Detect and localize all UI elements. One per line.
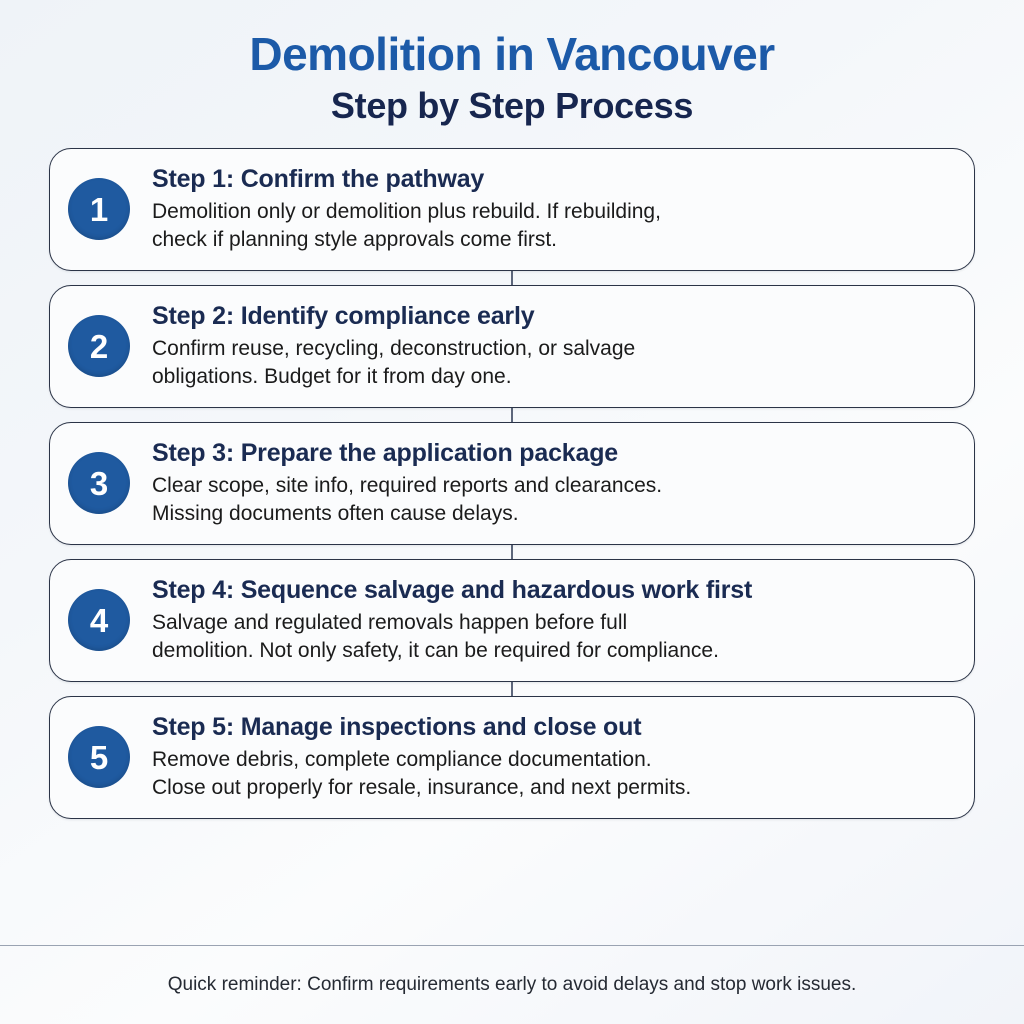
step-connector-line <box>511 270 513 286</box>
step-number-badge: 5 <box>68 726 130 788</box>
page-subtitle: Step by Step Process <box>0 86 1024 126</box>
step-item: 1Step 1: Confirm the pathwayDemolition o… <box>49 148 975 271</box>
step-item: 3Step 3: Prepare the application package… <box>49 422 975 545</box>
step-title: Step 4: Sequence salvage and hazardous w… <box>152 576 952 606</box>
page-title: Demolition in Vancouver <box>0 30 1024 78</box>
step-card[interactable]: 2Step 2: Identify compliance earlyConfir… <box>49 285 975 408</box>
step-description: Salvage and regulated removals happen be… <box>152 609 952 664</box>
infographic-poster: Demolition in Vancouver Step by Step Pro… <box>0 0 1024 1024</box>
step-description: Clear scope, site info, required reports… <box>152 472 952 527</box>
step-number-badge: 2 <box>68 315 130 377</box>
step-card-body: Step 4: Sequence salvage and hazardous w… <box>152 576 952 665</box>
step-connector-line <box>511 681 513 697</box>
step-card-body: Step 3: Prepare the application packageC… <box>152 439 952 528</box>
step-item: 4Step 4: Sequence salvage and hazardous … <box>49 559 975 682</box>
step-description: Demolition only or demolition plus rebui… <box>152 198 952 253</box>
step-number-badge: 3 <box>68 452 130 514</box>
step-connector-line <box>511 544 513 560</box>
step-card[interactable]: 4Step 4: Sequence salvage and hazardous … <box>49 559 975 682</box>
step-card[interactable]: 3Step 3: Prepare the application package… <box>49 422 975 545</box>
step-card-body: Step 5: Manage inspections and close out… <box>152 713 952 802</box>
step-card[interactable]: 1Step 1: Confirm the pathwayDemolition o… <box>49 148 975 271</box>
step-number-badge: 4 <box>68 589 130 651</box>
step-connector-line <box>511 407 513 423</box>
step-title: Step 5: Manage inspections and close out <box>152 713 952 743</box>
poster-header: Demolition in Vancouver Step by Step Pro… <box>0 0 1024 126</box>
step-card-body: Step 1: Confirm the pathwayDemolition on… <box>152 165 952 254</box>
step-title: Step 1: Confirm the pathway <box>152 165 952 195</box>
step-description: Confirm reuse, recycling, deconstruction… <box>152 335 952 390</box>
step-title: Step 2: Identify compliance early <box>152 302 952 332</box>
step-title: Step 3: Prepare the application package <box>152 439 952 469</box>
footer-bar: Quick reminder: Confirm requirements ear… <box>0 945 1024 1024</box>
footer-reminder-text: Quick reminder: Confirm requirements ear… <box>168 974 857 996</box>
step-description: Remove debris, complete compliance docum… <box>152 746 952 801</box>
step-card[interactable]: 5Step 5: Manage inspections and close ou… <box>49 696 975 819</box>
steps-list: 1Step 1: Confirm the pathwayDemolition o… <box>49 148 975 819</box>
step-item: 2Step 2: Identify compliance earlyConfir… <box>49 285 975 408</box>
step-item: 5Step 5: Manage inspections and close ou… <box>49 696 975 819</box>
step-number-badge: 1 <box>68 178 130 240</box>
step-card-body: Step 2: Identify compliance earlyConfirm… <box>152 302 952 391</box>
